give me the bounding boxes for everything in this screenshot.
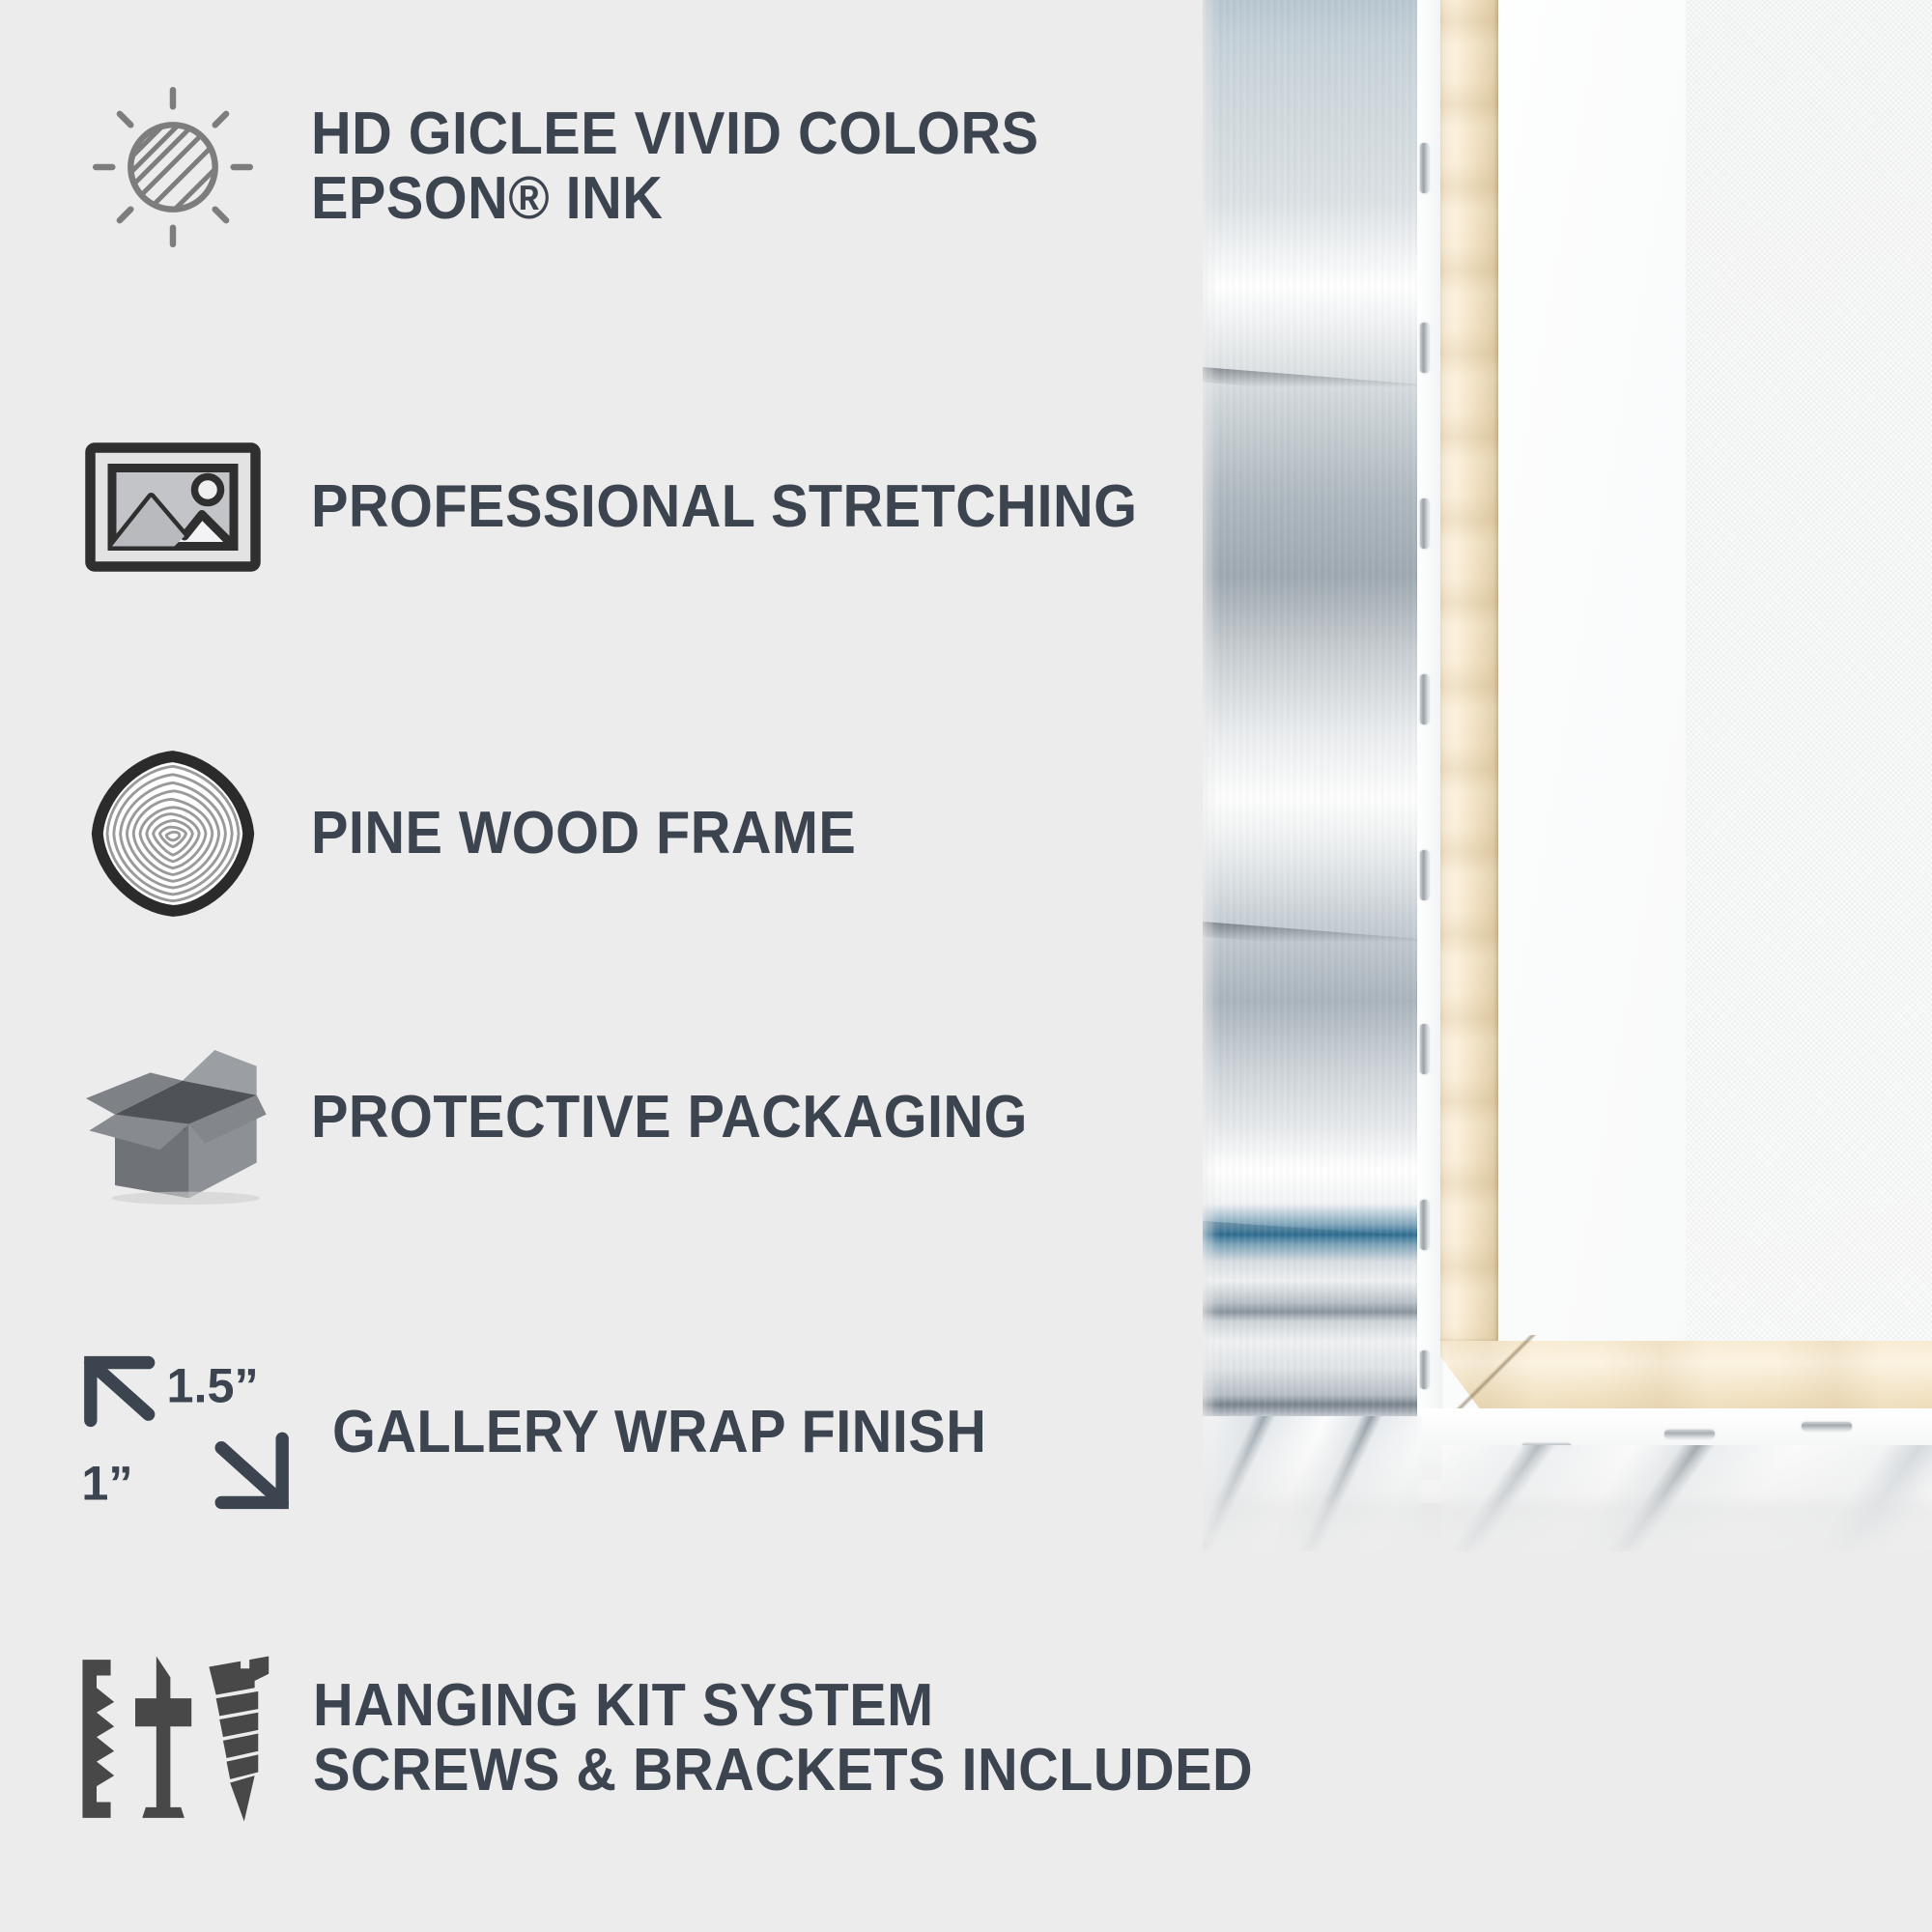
feature-item-protective-packaging: PROTECTIVE PACKAGING [71, 1026, 1082, 1209]
canvas-fold-crease [1203, 367, 1417, 400]
staple [1420, 323, 1429, 373]
feature-label-line: HD GICLEE VIVID COLORS [311, 102, 1038, 167]
feature-item-pine-wood-frame: PINE WOOD FRAME [71, 742, 897, 925]
staple [1420, 674, 1429, 724]
feature-label: PROTECTIVE PACKAGING [311, 1086, 1028, 1151]
hanging-hardware-icon [71, 1642, 276, 1835]
staple [1420, 143, 1429, 193]
feature-label: HD GICLEE VIVID COLORS EPSON® INK [311, 102, 1038, 232]
feature-item-gallery-wrap-finish: 1.5” 1” GALLERY WRAP FINISH [71, 1350, 1036, 1515]
product-photo [1203, 0, 1932, 1566]
sun-icon [71, 75, 274, 259]
picture-frame-icon [71, 415, 274, 599]
staple [1420, 850, 1429, 900]
feature-label-line: EPSON® INK [311, 167, 1038, 232]
canvas-weave-texture [1686, 0, 1932, 1503]
staple [1420, 1024, 1429, 1074]
depth-label-top: 1.5” [167, 1358, 259, 1413]
feature-item-hanging-kit: HANGING KIT SYSTEM SCREWS & BRACKETS INC… [71, 1642, 1323, 1835]
dimension-arrows-icon: 1.5” 1” [71, 1350, 301, 1515]
photo-bottom-fade [1203, 1411, 1932, 1566]
staple [1420, 1200, 1429, 1250]
feature-label-line: SCREWS & BRACKETS INCLUDED [313, 1739, 1253, 1804]
canvas-fold-crease [1203, 1221, 1417, 1250]
staple [1420, 498, 1429, 549]
infographic-page: HD GICLEE VIVID COLORS EPSON® INK PROFES… [0, 0, 1932, 1932]
staple [1420, 1350, 1429, 1389]
feature-list: HD GICLEE VIVID COLORS EPSON® INK PROFES… [0, 0, 1217, 1932]
feature-label: HANGING KIT SYSTEM SCREWS & BRACKETS INC… [313, 1674, 1253, 1804]
feature-label-line: PROTECTIVE PACKAGING [311, 1086, 1028, 1151]
feature-label: PINE WOOD FRAME [311, 802, 856, 867]
photo-inner [1203, 0, 1932, 1566]
gallery-wrapped-edge [1203, 0, 1417, 1542]
feature-label-line: PROFESSIONAL STRETCHING [311, 475, 1137, 540]
tree-ring-icon [71, 742, 274, 925]
depth-label-bottom: 1” [81, 1455, 132, 1510]
feature-item-hd-giclee: HD GICLEE VIVID COLORS EPSON® INK [71, 75, 1094, 259]
feature-label: PROFESSIONAL STRETCHING [311, 475, 1137, 540]
feature-label-line: PINE WOOD FRAME [311, 802, 856, 867]
feature-label: GALLERY WRAP FINISH [332, 1401, 986, 1465]
canvas-fold-crease [1203, 922, 1417, 954]
feature-item-professional-stretching: PROFESSIONAL STRETCHING [71, 415, 1200, 599]
feature-label-line: HANGING KIT SYSTEM [313, 1674, 1253, 1739]
open-box-icon [71, 1026, 274, 1209]
feature-label-line: GALLERY WRAP FINISH [332, 1401, 986, 1465]
